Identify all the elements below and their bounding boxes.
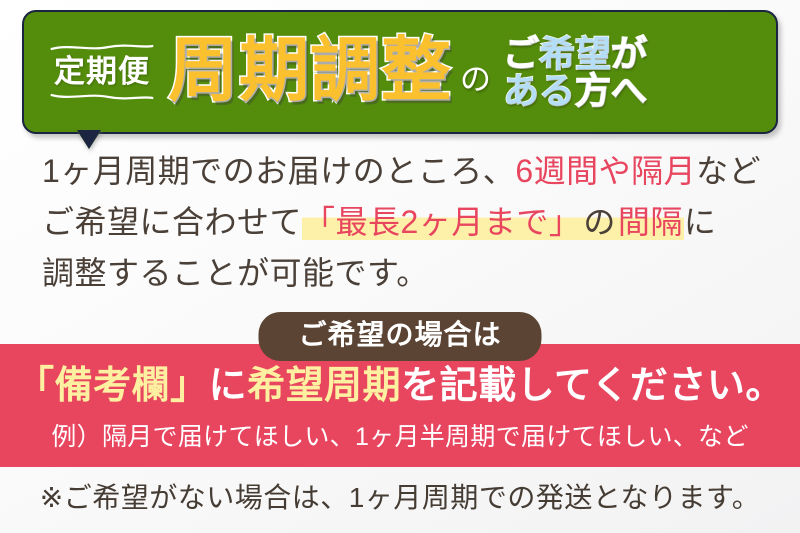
body-seg-2c-marker: の — [582, 204, 617, 240]
body-seg-1b-highlight: 6週間や隔月 — [515, 153, 696, 189]
instruction-seg-b: に — [209, 365, 248, 407]
audience-note-line-2: ある方へ — [503, 72, 647, 109]
subscription-label: 定期便 — [50, 43, 154, 101]
body-seg-2d-marker: 間隔 — [617, 204, 684, 240]
footer-note: ※ご希望がない場合は、1ヶ月周期での発送となります。 — [0, 481, 800, 515]
body-line-1: 1ヶ月周期でのお届けのところ、6週間や隔月など — [42, 146, 800, 197]
instruction-seg-d: を記載してください。 — [401, 365, 784, 407]
header-bubble: 定期便 周期調整 の ご希望が ある方へ — [22, 10, 778, 134]
subscription-label-text: 定期便 — [54, 56, 150, 87]
instruction-example: 例）隔月で届けてほしい、1ヶ月半周期で届けてほしい、など — [0, 422, 800, 452]
body-line-2: ご希望に合わせて「最長2ヶ月まで」の間隔に — [42, 197, 800, 248]
bubble-tail-icon — [78, 132, 100, 149]
promo-banner: 定期便 周期調整 の ご希望が ある方へ 1ヶ月周 — [0, 0, 800, 533]
audience-seg-2b: 方へ — [575, 70, 647, 111]
header-content: 定期便 周期調整 の ご希望が ある方へ — [24, 12, 776, 132]
wave-line-bottom-icon — [50, 92, 154, 101]
header-audience-note: ご希望が ある方へ — [503, 35, 647, 110]
instruction-seg-a: 「備考欄」 — [16, 365, 209, 407]
audience-note-line-1: ご希望が — [503, 35, 647, 72]
body-seg-2a: ご希望に合わせて — [42, 204, 302, 240]
audience-seg-1c: が — [611, 33, 647, 74]
request-case-badge: ご希望の場合は — [258, 312, 541, 361]
header-main-title: 周期調整 — [168, 35, 452, 109]
instruction-band: 「備考欄」に希望周期を記載してください。 例）隔月で届けてほしい、1ヶ月半周期で… — [0, 344, 800, 467]
body-line-3: 調整することが可能です。 — [42, 248, 800, 299]
body-seg-2b-marker: 「最長2ヶ月まで」 — [302, 204, 582, 240]
audience-seg-1a: ご — [503, 33, 539, 74]
audience-seg-2a: ある — [503, 70, 575, 111]
body-paragraph: 1ヶ月周期でのお届けのところ、6週間や隔月など ご希望に合わせて「最長2ヶ月まで… — [0, 146, 800, 299]
header-connector: の — [460, 64, 491, 95]
body-seg-1a: 1ヶ月周期でのお届けのところ、 — [42, 153, 515, 189]
instruction-seg-c: 希望周期 — [247, 365, 401, 407]
wave-line-top-icon — [50, 43, 154, 52]
instruction-headline: 「備考欄」に希望周期を記載してください。 — [0, 366, 800, 408]
body-seg-1c: など — [696, 153, 761, 189]
body-seg-2e: に — [684, 204, 717, 240]
audience-seg-1b: 希望 — [539, 33, 611, 74]
